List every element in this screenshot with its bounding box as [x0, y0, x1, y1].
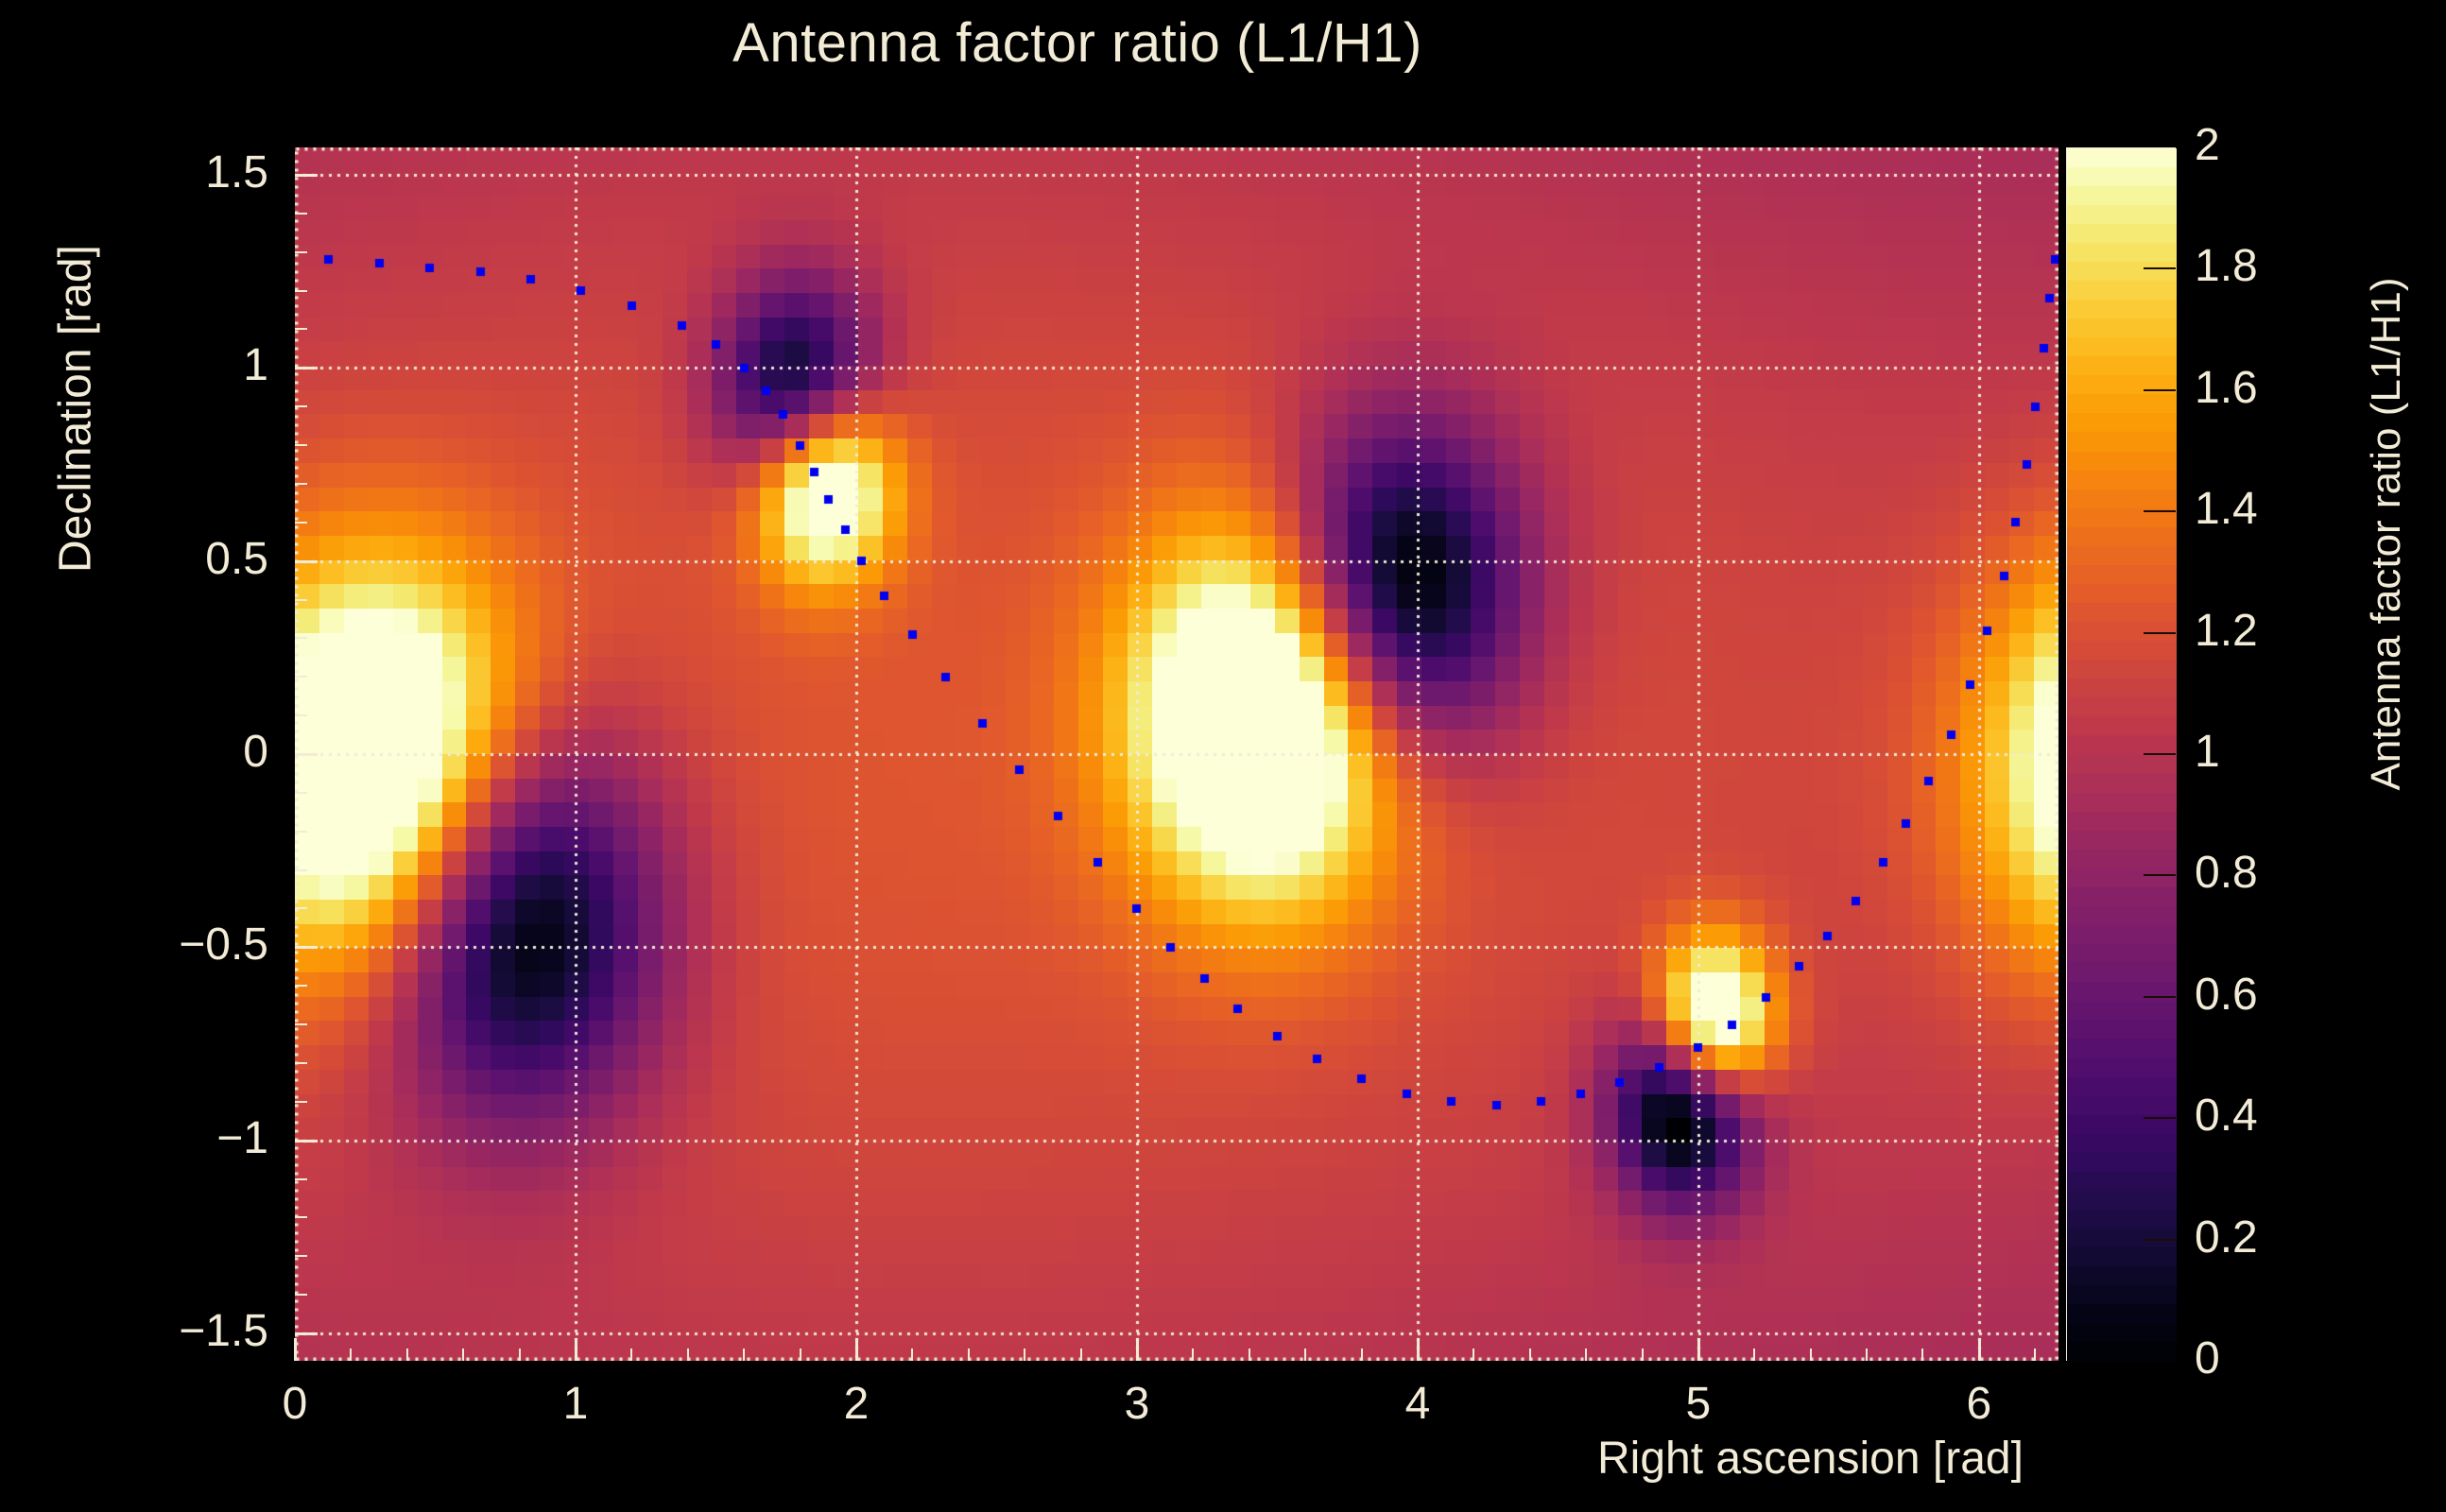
- x-minor-tick: [462, 1349, 464, 1361]
- y-minor-tick: [295, 753, 307, 755]
- y-minor-tick: [295, 907, 307, 909]
- y-minor-tick: [295, 792, 307, 794]
- colorbar-tick-label-6: 0.8: [2195, 847, 2258, 899]
- x-minor-tick: [1304, 1349, 1306, 1361]
- y-minor-tick: [295, 174, 307, 176]
- y-minor-tick: [295, 1101, 307, 1103]
- colorbar-tick-label-3: 1.4: [2195, 483, 2258, 535]
- y-minor-tick: [295, 599, 307, 601]
- x-tick-label-6: 6: [1967, 1378, 1992, 1430]
- x-minor-tick: [855, 1349, 857, 1361]
- y-minor-tick: [295, 1178, 307, 1180]
- y-minor-tick: [295, 251, 307, 253]
- y-minor-tick: [295, 869, 307, 871]
- y-tick-label-2: 0.5: [205, 533, 268, 585]
- colorbar-tick: [2144, 1117, 2176, 1119]
- colorbar-tick-label-8: 0.4: [2195, 1090, 2258, 1142]
- y-tick-label-3: 0: [243, 726, 268, 778]
- colorbar-tick-label-1: 1.8: [2195, 240, 2258, 292]
- y-minor-tick: [295, 213, 307, 215]
- colorbar-tick-label-9: 0.2: [2195, 1211, 2258, 1263]
- x-minor-tick: [294, 1349, 296, 1361]
- y-minor-tick: [295, 1140, 307, 1142]
- y-minor-tick: [295, 714, 307, 716]
- x-minor-tick: [968, 1349, 970, 1361]
- colorbar-tick-label-0: 2: [2195, 119, 2220, 171]
- x-minor-tick: [575, 1349, 577, 1361]
- y-minor-tick: [295, 1216, 307, 1218]
- x-tick-label-5: 5: [1686, 1378, 1712, 1430]
- x-minor-tick: [1921, 1349, 1923, 1361]
- y-minor-tick: [295, 560, 307, 562]
- page-title: Antenna factor ratio (L1/H1): [0, 11, 2155, 75]
- x-minor-tick: [1697, 1349, 1699, 1361]
- y-minor-tick: [295, 1332, 307, 1334]
- colorbar-tick-label-2: 1.6: [2195, 362, 2258, 414]
- colorbar-tick: [2144, 1239, 2176, 1241]
- colorbar-tick-label-4: 1.2: [2195, 605, 2258, 657]
- y-minor-tick: [295, 483, 307, 485]
- x-minor-tick: [2034, 1349, 2036, 1361]
- colorbar-tick: [2144, 389, 2176, 391]
- x-minor-tick: [800, 1349, 801, 1361]
- x-axis-title: Right ascension [rad]: [1597, 1433, 2024, 1485]
- x-minor-tick: [743, 1349, 745, 1361]
- x-minor-tick: [1249, 1349, 1250, 1361]
- x-minor-tick: [1753, 1349, 1755, 1361]
- colorbar-tick: [2144, 267, 2176, 269]
- z-axis-title: Antenna factor ratio (L1/H1): [2363, 203, 2410, 865]
- y-tick-label-1: 1: [243, 339, 268, 391]
- colorbar-tick-label-10: 0: [2195, 1332, 2220, 1384]
- x-minor-tick: [1810, 1349, 1812, 1361]
- x-tick-label-4: 4: [1405, 1378, 1431, 1430]
- x-minor-tick: [1080, 1349, 1082, 1361]
- colorbar-tick: [2144, 632, 2176, 634]
- y-minor-tick: [295, 367, 307, 369]
- x-tick-label-0: 0: [283, 1378, 308, 1430]
- y-minor-tick: [295, 328, 307, 330]
- y-minor-tick: [295, 637, 307, 639]
- y-minor-tick: [295, 444, 307, 446]
- colorbar-gradient: [2067, 148, 2177, 1362]
- y-tick-label-6: −1.5: [179, 1305, 268, 1357]
- x-minor-tick: [1417, 1349, 1419, 1361]
- y-minor-tick: [295, 1062, 307, 1064]
- x-tick-label-3: 3: [1125, 1378, 1150, 1430]
- y-tick-label-5: −1: [216, 1112, 268, 1164]
- y-minor-tick: [295, 676, 307, 678]
- x-minor-tick: [1361, 1349, 1363, 1361]
- y-axis-title: Declination [rad]: [50, 163, 102, 655]
- y-minor-tick: [295, 522, 307, 524]
- colorbar-tick: [2144, 510, 2176, 512]
- colorbar-tick: [2144, 874, 2176, 876]
- x-minor-tick: [1978, 1349, 1980, 1361]
- colorbar-tick: [2144, 996, 2176, 998]
- y-tick-label-0: 1.5: [205, 146, 268, 198]
- chart-root: Antenna factor ratio (L1/H1) 01234561.51…: [0, 0, 2446, 1512]
- colorbar-tick-label-7: 0.6: [2195, 969, 2258, 1021]
- x-minor-tick: [1136, 1349, 1138, 1361]
- y-minor-tick: [295, 985, 307, 987]
- y-minor-tick: [295, 831, 307, 833]
- y-minor-tick: [295, 1255, 307, 1257]
- heatmap-plot-area: [295, 147, 2058, 1361]
- x-minor-tick: [911, 1349, 913, 1361]
- y-tick-label-4: −0.5: [179, 919, 268, 971]
- x-minor-tick: [1866, 1349, 1868, 1361]
- x-tick-label-1: 1: [563, 1378, 589, 1430]
- colorbar-tick-label-5: 1: [2195, 726, 2220, 778]
- x-minor-tick: [1024, 1349, 1025, 1361]
- x-minor-tick: [630, 1349, 632, 1361]
- y-minor-tick: [295, 405, 307, 407]
- x-minor-tick: [1192, 1349, 1194, 1361]
- y-minor-tick: [295, 1294, 307, 1296]
- colorbar-tick: [2144, 753, 2176, 755]
- x-minor-tick: [1585, 1349, 1587, 1361]
- y-minor-tick: [295, 946, 307, 948]
- overlay-markers-canvas: [295, 147, 2058, 1361]
- x-minor-tick: [1529, 1349, 1531, 1361]
- x-minor-tick: [350, 1349, 352, 1361]
- x-minor-tick: [687, 1349, 689, 1361]
- x-minor-tick: [1642, 1349, 1644, 1361]
- x-minor-tick: [406, 1349, 408, 1361]
- y-minor-tick: [295, 290, 307, 292]
- x-minor-tick: [519, 1349, 521, 1361]
- y-minor-tick: [295, 1023, 307, 1025]
- x-tick-label-2: 2: [844, 1378, 870, 1430]
- x-minor-tick: [1473, 1349, 1474, 1361]
